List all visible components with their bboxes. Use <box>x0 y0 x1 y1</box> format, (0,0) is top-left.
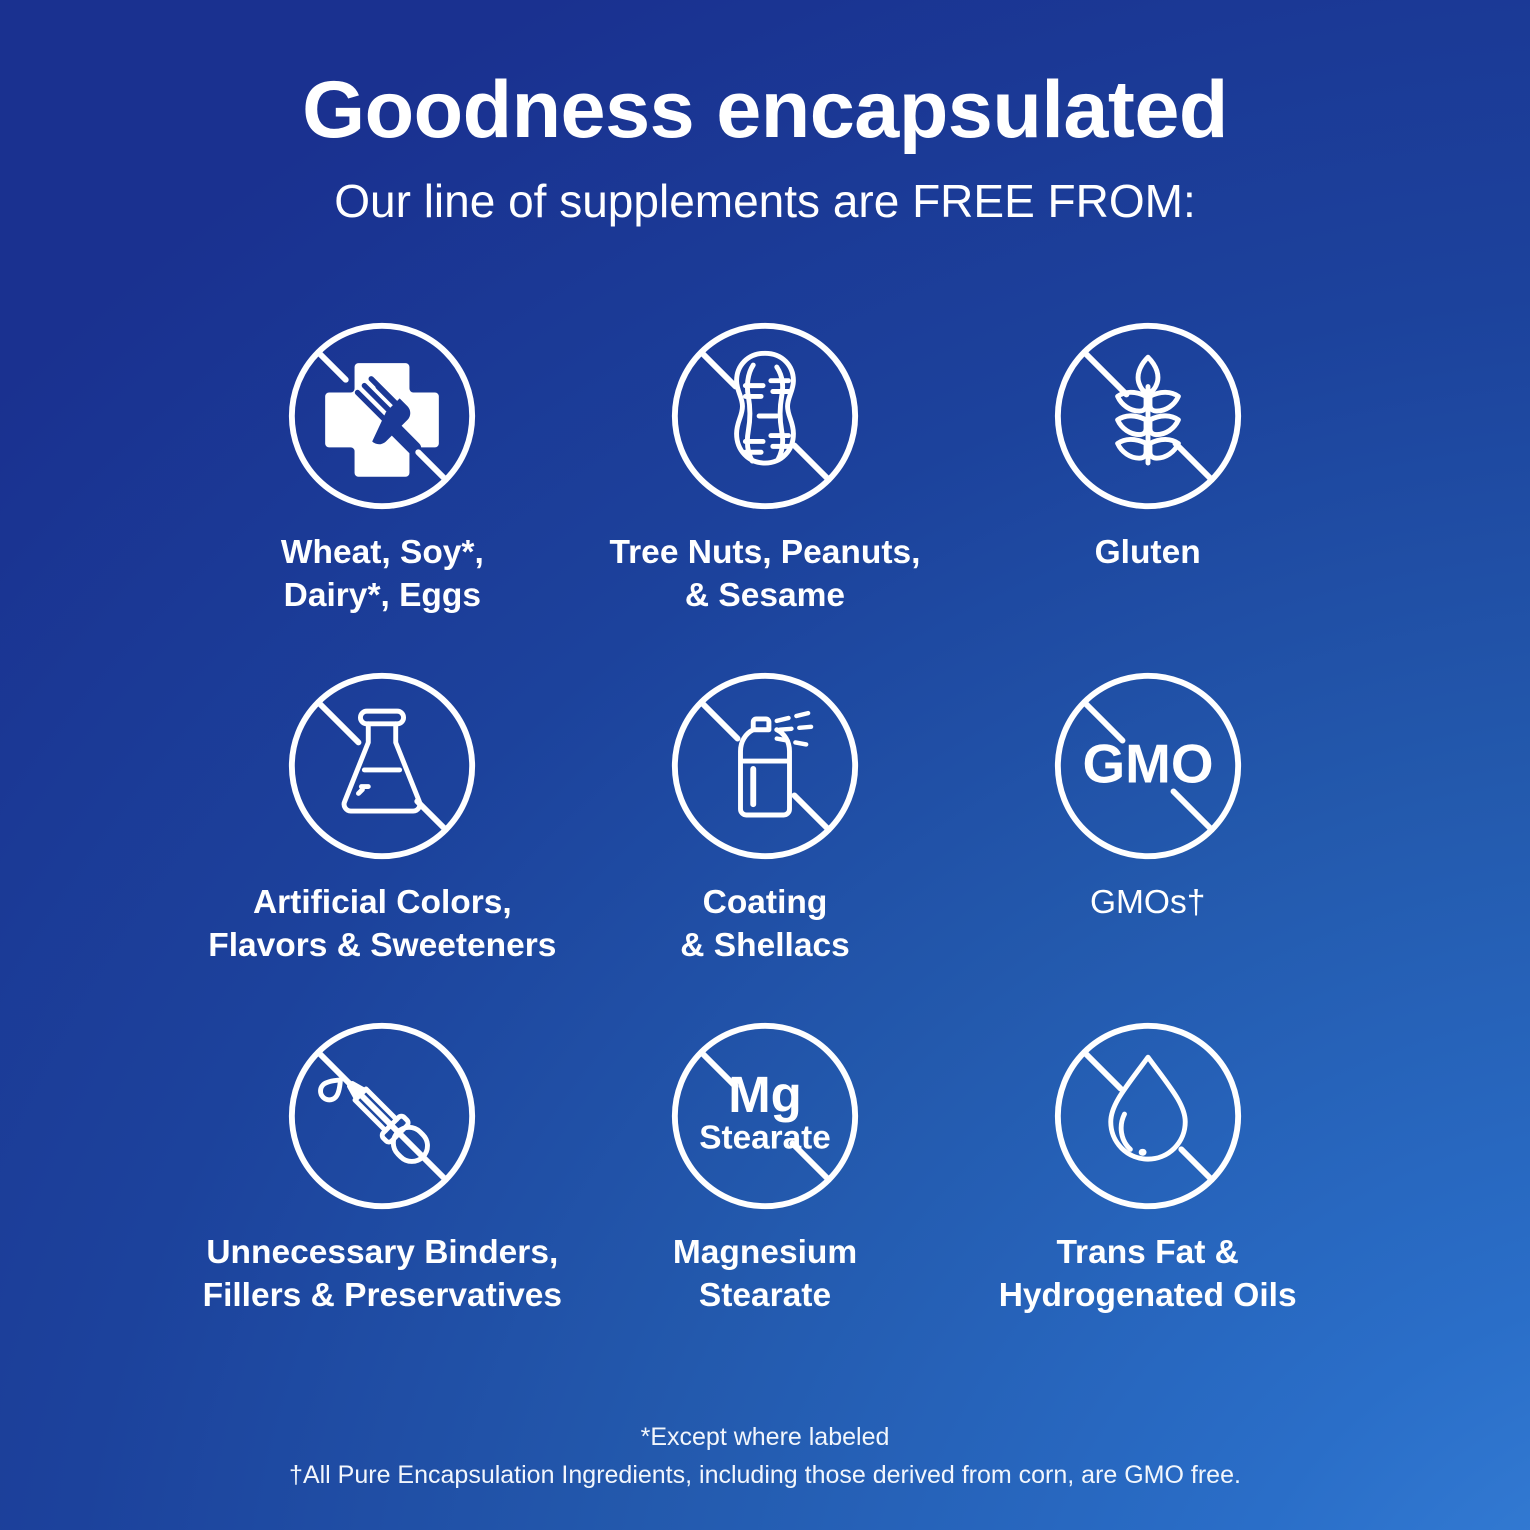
grid-item-label: Magnesium Stearate <box>673 1232 857 1317</box>
stearate-icon-text: Stearate <box>699 1119 830 1156</box>
grid-item-label: Unnecessary Binders, Fillers & Preservat… <box>203 1232 562 1317</box>
no-wheat-icon <box>1050 318 1246 514</box>
grid-item-label: Tree Nuts, Peanuts, & Sesame <box>610 532 921 617</box>
no-dropper-icon <box>284 1018 480 1214</box>
no-peanut-icon <box>667 318 863 514</box>
poster: Goodness encapsulated Our line of supple… <box>0 0 1530 1530</box>
header: Goodness encapsulated Our line of supple… <box>0 68 1530 226</box>
no-cross-fork-icon <box>284 318 480 514</box>
free-from-grid: Wheat, Soy*, Dairy*, Eggs <box>191 318 1339 1368</box>
page-subtitle: Our line of supplements are FREE FROM: <box>0 176 1530 227</box>
grid-item-label: GMOs† <box>1090 882 1205 925</box>
grid-item: Trans Fat & Hydrogenated Oils <box>956 1018 1339 1368</box>
mg-icon-text: Mg <box>728 1066 802 1123</box>
grid-item: Coating & Shellacs <box>574 668 957 1018</box>
no-gmo-icon: GMO <box>1050 668 1246 864</box>
gmo-icon-text: GMO <box>1082 733 1213 795</box>
grid-item: Tree Nuts, Peanuts, & Sesame <box>574 318 957 668</box>
grid-item-label: Artificial Colors, Flavors & Sweeteners <box>208 882 556 967</box>
grid-item-label: Wheat, Soy*, Dairy*, Eggs <box>281 532 484 617</box>
footnote-dagger: †All Pure Encapsulation Ingredients, inc… <box>0 1457 1530 1495</box>
grid-item: Wheat, Soy*, Dairy*, Eggs <box>191 318 574 668</box>
grid-item-label: Coating & Shellacs <box>680 882 849 967</box>
no-oil-droplet-icon <box>1050 1018 1246 1214</box>
grid-item: Mg Stearate Magnesium Stearate <box>574 1018 957 1368</box>
no-mg-stearate-icon: Mg Stearate <box>667 1018 863 1214</box>
grid-item: Unnecessary Binders, Fillers & Preservat… <box>191 1018 574 1368</box>
grid-item: GMO GMOs† <box>956 668 1339 1018</box>
footnotes: *Except where labeled †All Pure Encapsul… <box>0 1419 1530 1494</box>
page-title: Goodness encapsulated <box>0 68 1530 154</box>
grid-item: Artificial Colors, Flavors & Sweeteners <box>191 668 574 1018</box>
footnote-asterisk: *Except where labeled <box>0 1419 1530 1457</box>
grid-item: Gluten <box>956 318 1339 668</box>
no-spray-can-icon <box>667 668 863 864</box>
no-flask-icon <box>284 668 480 864</box>
grid-item-label: Trans Fat & Hydrogenated Oils <box>999 1232 1297 1317</box>
grid-item-label: Gluten <box>1095 532 1201 575</box>
